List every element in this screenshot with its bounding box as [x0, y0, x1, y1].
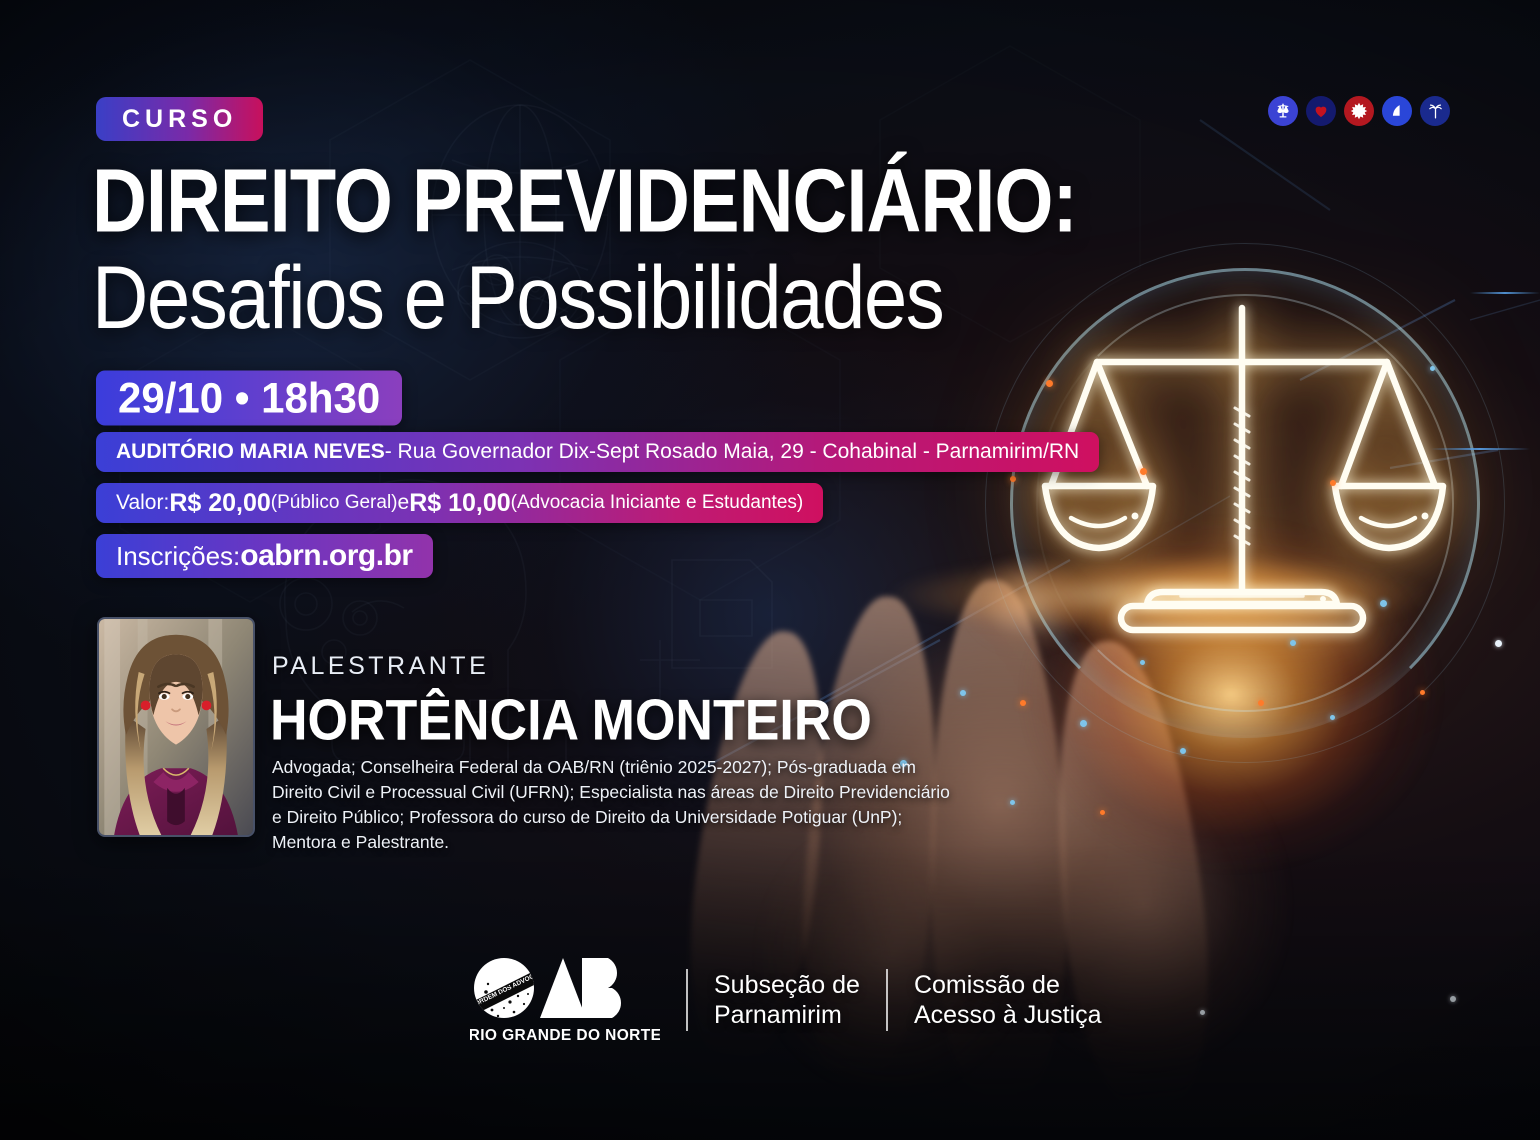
venue-bar: AUDITÓRIO MARIA NEVES - Rua Governador D… [96, 432, 1099, 472]
price-label: Valor: [116, 491, 169, 515]
speaker-bio: Advogada; Conselheira Federal da OAB/RN … [272, 755, 962, 854]
footer-org2-line2: Acesso à Justiça [914, 1000, 1102, 1031]
svg-text:RIO GRANDE DO NORTE: RIO GRANDE DO NORTE [470, 1027, 660, 1044]
registration-label: Inscrições: [116, 541, 240, 572]
price-general: R$ 20,00 [169, 489, 270, 518]
oab-logo: ORDEM DOS ADVOGADOS DO BRASIL RIO GRANDE… [470, 950, 660, 1050]
sunburst-icon [1344, 96, 1374, 126]
heart-icon [1306, 96, 1336, 126]
price-bar: Valor: R$ 20,00 (Público Geral) e R$ 10,… [96, 483, 823, 523]
footer-org2-line1: Comissão de [914, 970, 1102, 1001]
venue-address: - Rua Governador Dix-Sept Rosado Maia, 2… [385, 440, 1079, 464]
curso-badge: CURSO [96, 97, 263, 141]
page-title-line1: DIREITO PREVIDENCIÁRIO: [92, 157, 1392, 247]
footer-divider-1 [686, 969, 688, 1031]
price-general-note: (Público Geral) [271, 492, 398, 514]
footer-org-subsection: Subseção de Parnamirim [714, 970, 860, 1031]
social-badge-row [1268, 96, 1450, 126]
event-poster: CURSO DIREITO PREVIDENCIÁRIO: Desafios e… [0, 0, 1540, 1140]
footer-org-commission: Comissão de Acesso à Justiça [914, 970, 1102, 1031]
palm-tree-icon [1420, 96, 1450, 126]
scales-of-justice-graphic [1035, 300, 1450, 660]
footer-org1-line1: Subseção de [714, 970, 860, 1001]
sail-icon [1382, 96, 1412, 126]
speaker-avatar [97, 617, 255, 837]
registration-url[interactable]: oabrn.org.br [240, 539, 412, 573]
footer: ORDEM DOS ADVOGADOS DO BRASIL RIO GRANDE… [470, 950, 1102, 1050]
price-student: R$ 10,00 [409, 489, 510, 518]
registration-bar[interactable]: Inscrições: oabrn.org.br [96, 534, 433, 578]
page-title-line2: Desafios e Possibilidades [92, 253, 1392, 342]
venue-name: AUDITÓRIO MARIA NEVES [116, 440, 385, 464]
speaker-name: HORTÊNCIA MONTEIRO [270, 688, 872, 754]
price-student-note: (Advocacia Iniciante e Estudantes) [511, 492, 804, 514]
footer-divider-2 [886, 969, 888, 1031]
price-conjunction: e [398, 491, 410, 515]
date-time-badge: 29/10 • 18h30 [96, 370, 402, 425]
scales-of-justice-icon [1268, 96, 1298, 126]
speaker-role-label: PALESTRANTE [272, 652, 489, 681]
footer-org1-line2: Parnamirim [714, 1000, 860, 1031]
